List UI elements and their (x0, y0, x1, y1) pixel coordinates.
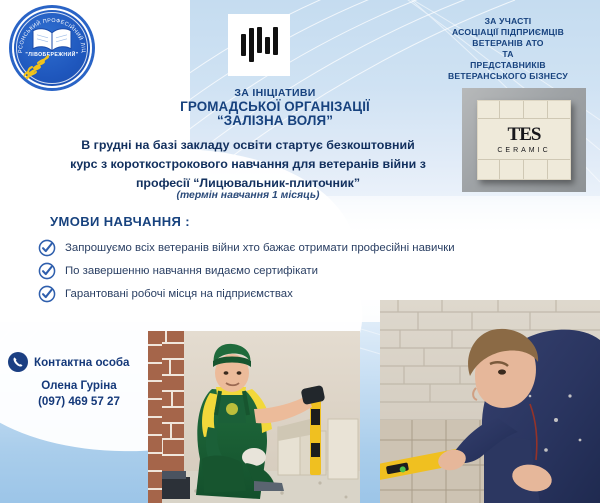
initiative-line-1: ЗА ІНІЦІАТИВИ (110, 86, 440, 100)
lead-line-1: В грудні на базі закладу освіти стартує … (48, 136, 448, 155)
initiative-line-3: “ЗАЛІЗНА ВОЛЯ” (110, 114, 440, 128)
check-circle-icon (38, 285, 56, 303)
tes-brand-name: TES (478, 124, 570, 146)
tes-brand-block: TES CERAMIC (478, 124, 570, 154)
lead-duration-note: (термін навчання 1 місяць) (48, 190, 448, 201)
bars-logo-icon (241, 27, 278, 63)
institution-seal: ХЕРСОНСЬКИЙ ПРОФЕСІЙНИЙ ЛІЦЕЙ "ЛІВОБЕРЕЖ… (12, 8, 92, 88)
condition-text: По завершенню навчання видаємо сертифіка… (65, 265, 318, 277)
list-item: По завершенню навчання видаємо сертифіка… (38, 259, 583, 282)
conditions-list: Запрошуємо всіх ветеранів війни хто бажа… (38, 236, 583, 305)
participation-line-1: ЗА УЧАСТІ (420, 16, 596, 27)
conditions-title: УМОВИ НАВЧАННЯ : (50, 214, 190, 229)
list-item: Запрошуємо всіх ветеранів війни хто бажа… (38, 236, 583, 259)
contact-person-name: Олена Гуріна (8, 379, 150, 392)
participation-line-6: ВЕТЕРАНСЬКОГО БІЗНЕСУ (420, 71, 596, 82)
ceramic-tile-icon: TES CERAMIC (477, 100, 571, 180)
contact-phone-number[interactable]: (097) 469 57 27 (8, 395, 150, 408)
participation-line-3: ВЕТЕРАНІВ АТО (420, 38, 596, 49)
phone-icon (8, 352, 28, 372)
contact-block: Контактна особа Олена Гуріна (097) 469 5… (8, 352, 158, 408)
wheat-ear-icon (14, 48, 60, 88)
lead-paragraph: В грудні на базі закладу освіти стартує … (48, 136, 448, 193)
contact-label: Контактна особа (34, 356, 130, 369)
participation-block: ЗА УЧАСТІ АСОЦІАЦІЇ ПІДПРИЄМЦІВ ВЕТЕРАНІ… (420, 16, 596, 82)
lead-line-2: курс з короткострокового навчання для ве… (48, 155, 448, 174)
center-logo-container (228, 14, 290, 76)
participation-line-2: АСОЦІАЦІЇ ПІДПРИЄМЦІВ (420, 27, 596, 38)
check-circle-icon (38, 239, 56, 257)
tes-brand-subtitle: CERAMIC (478, 147, 570, 154)
check-circle-icon (38, 262, 56, 280)
participation-line-4: ТА (420, 49, 596, 60)
initiative-line-2: ГРОМАДСЬКОЇ ОРГАНІЗАЦІЇ (110, 100, 440, 114)
left-logo-container: ХЕРСОНСЬКИЙ ПРОФЕСІЙНИЙ ЛІЦЕЙ "ЛІВОБЕРЕЖ… (6, 4, 98, 92)
condition-text: Запрошуємо всіх ветеранів війни хто бажа… (65, 242, 455, 254)
initiative-heading: ЗА ІНІЦІАТИВИ ГРОМАДСЬКОЇ ОРГАНІЗАЦІЇ “З… (110, 86, 440, 128)
participation-line-5: ПРЕДСТАВНИКІВ (420, 60, 596, 71)
photo-tiler-green-overalls (150, 331, 360, 503)
condition-text: Гарантовані робочі місця на підприємства… (65, 288, 293, 300)
contact-label-row: Контактна особа (8, 352, 158, 372)
photo-tiler-blue-overalls (380, 300, 600, 503)
partner-logo-tes-ceramic: TES CERAMIC (462, 88, 586, 192)
poster-root: ХЕРСОНСЬКИЙ ПРОФЕСІЙНИЙ ЛІЦЕЙ "ЛІВОБЕРЕЖ… (0, 0, 600, 503)
